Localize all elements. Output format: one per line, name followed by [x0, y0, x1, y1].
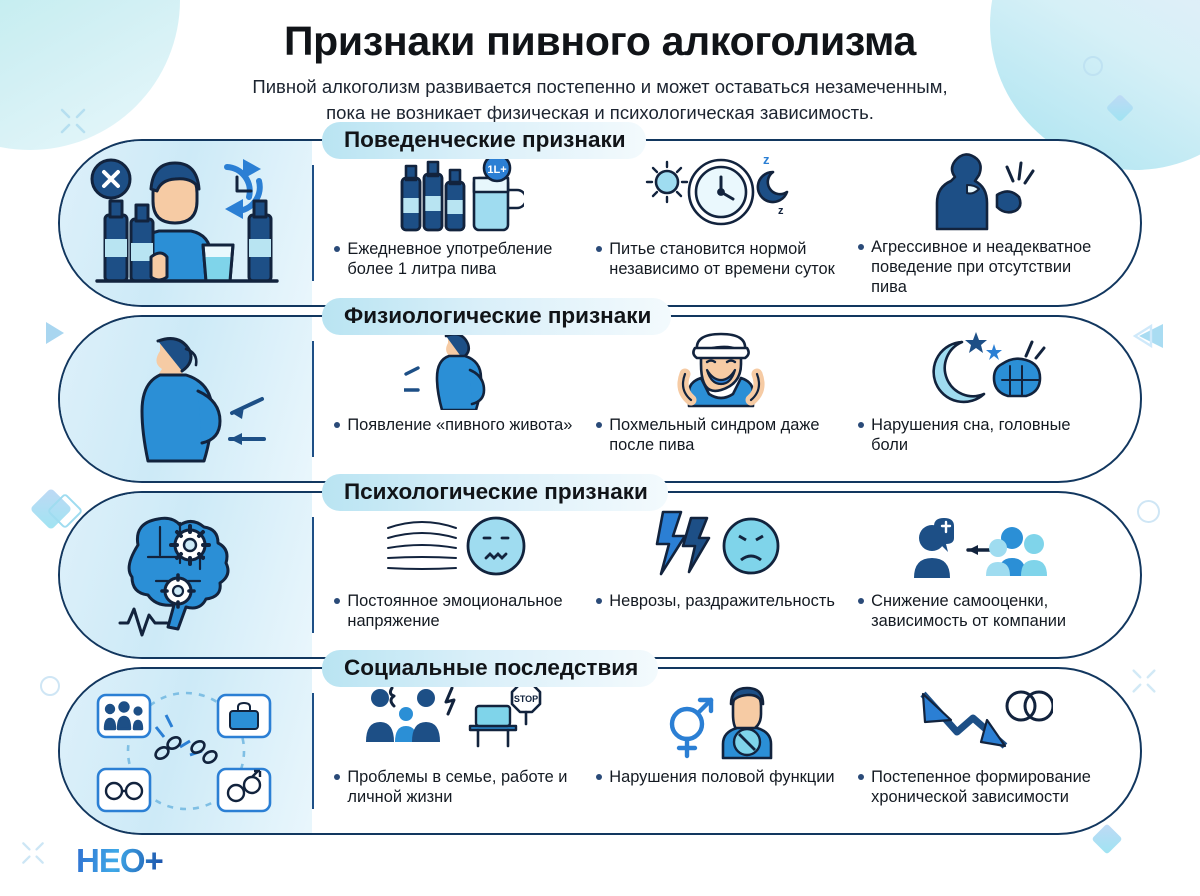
list-item-text-row: Неврозы, раздражительность	[596, 591, 846, 611]
svg-text:STOP: STOP	[514, 694, 538, 704]
section-card-physiological: Физиологические признаки	[58, 315, 1142, 483]
section-items-psychological: Постоянное эмоциональное напряжение	[314, 493, 1140, 657]
page-header: Признаки пивного алкоголизма Пивной алко…	[0, 0, 1200, 127]
bullet-dot	[596, 246, 602, 252]
bullet-dot	[858, 774, 864, 780]
section-items-social: STOP Проблемы в семье, работе и личной ж…	[314, 669, 1140, 833]
list-item: Агрессивное и неадекватное поведение при…	[852, 151, 1114, 297]
list-item-label: Агрессивное и неадекватное поведение при…	[871, 237, 1108, 298]
illustration-man-with-beer-belly	[60, 317, 312, 481]
list-item-text-row: Похмельный синдром даже после пива	[596, 415, 846, 456]
bullet-dot	[334, 598, 340, 604]
list-item-text-row: Агрессивное и неадекватное поведение при…	[858, 237, 1108, 298]
heading-dash	[650, 139, 692, 142]
section-items-behavioral: 1L+ Ежедневное употребление более 1 литр…	[314, 141, 1140, 305]
illustration-man-with-beer-bottles	[60, 141, 312, 305]
section-heading-label: Психологические признаки	[322, 474, 668, 511]
beer-belly-profile-icon	[404, 327, 514, 411]
bullet-dot	[858, 244, 864, 250]
list-item: z z Питье становится нормой независимо о…	[590, 151, 852, 297]
tense-worried-face-icon	[384, 503, 534, 587]
list-item-text-row: Снижение самооценки, зависимость от комп…	[858, 591, 1108, 632]
list-item-label: Постоянное эмоциональное напряжение	[347, 591, 584, 632]
sexual-dysfunction-icon	[661, 679, 781, 763]
list-item-label: Нарушения сна, головные боли	[871, 415, 1108, 456]
list-item-text-row: Появление «пивного живота»	[334, 415, 584, 435]
moon-stars-brain-insomnia-icon	[918, 327, 1048, 411]
section-heading-behavioral: Поведенческие признаки	[322, 122, 692, 159]
subtitle-line-1: Пивной алкоголизм развивается постепенно…	[0, 74, 1200, 100]
list-item-label: Нарушения половой функции	[609, 767, 834, 787]
svg-text:z: z	[778, 205, 784, 217]
list-item: Нарушения сна, головные боли	[852, 327, 1114, 473]
bullet-dot	[858, 598, 864, 604]
family-conflict-work-stop-icon: STOP	[364, 679, 554, 763]
list-item-text-row: Нарушения сна, головные боли	[858, 415, 1108, 456]
list-item-text-row: Постоянное эмоциональное напряжение	[334, 591, 584, 632]
section-card-psychological: Психологические признаки	[58, 491, 1142, 659]
list-item-text-row: Постепенное формирование хронической зав…	[858, 767, 1108, 808]
bullet-dot	[334, 246, 340, 252]
aggressive-shouting-man-icon	[923, 151, 1043, 233]
day-night-clock-icon: z z	[641, 151, 801, 235]
list-item-label: Питье становится нормой независимо от вр…	[609, 239, 846, 280]
list-item: Неврозы, раздражительность	[590, 503, 852, 649]
section-card-behavioral: Поведенческие признаки	[58, 139, 1142, 307]
section-card-social: Социальные последствия	[58, 667, 1142, 835]
list-item-text-row: Проблемы в семье, работе и личной жизни	[334, 767, 584, 808]
bullet-dot	[596, 774, 602, 780]
bullet-dot	[334, 774, 340, 780]
illustration-broken-chain-family-work	[60, 669, 312, 833]
list-item-label: Постепенное формирование хронической зав…	[871, 767, 1108, 808]
list-item-label: Проблемы в семье, работе и личной жизни	[347, 767, 584, 808]
section-heading-psychological: Психологические признаки	[322, 474, 714, 511]
bullet-dot	[596, 598, 602, 604]
list-item-label: Неврозы, раздражительность	[609, 591, 835, 611]
list-item: Похмельный синдром даже после пива	[590, 327, 852, 473]
list-item: 1L+ Ежедневное употребление более 1 литр…	[328, 151, 590, 297]
section-items-physiological: Появление «пивного живота»	[314, 317, 1140, 481]
list-item-label: Ежедневное употребление более 1 литра пи…	[347, 239, 584, 280]
section-heading-social: Социальные последствия	[322, 650, 704, 687]
lightning-angry-face-icon	[651, 503, 791, 587]
section-heading-label: Физиологические признаки	[322, 298, 671, 335]
page-subtitle: Пивной алкоголизм развивается постепенно…	[0, 74, 1200, 127]
beer-bottles-and-1l-jug-icon: 1L+	[394, 151, 524, 235]
page-title: Признаки пивного алкоголизма	[0, 18, 1200, 65]
list-item: STOP Проблемы в семье, работе и личной ж…	[328, 679, 590, 825]
list-item: Появление «пивного живота»	[328, 327, 590, 473]
list-item: Постепенное формирование хронической зав…	[852, 679, 1114, 825]
section-heading-physiological: Физиологические признаки	[322, 298, 717, 335]
list-item: Постоянное эмоциональное напряжение	[328, 503, 590, 649]
list-item-label: Появление «пивного живота»	[347, 415, 572, 435]
downward-arrow-rings-icon	[913, 679, 1053, 763]
svg-text:z: z	[763, 152, 770, 167]
list-item: Снижение самооценки, зависимость от комп…	[852, 503, 1114, 649]
bullet-dot	[858, 422, 864, 428]
list-item-text-row: Ежедневное употребление более 1 литра пи…	[334, 239, 584, 280]
heading-dash	[675, 315, 717, 318]
list-item-label: Похмельный синдром даже после пива	[609, 415, 846, 456]
heading-dash	[672, 491, 714, 494]
hangover-headache-man-icon	[661, 327, 781, 411]
section-heading-label: Социальные последствия	[322, 650, 658, 687]
section-heading-label: Поведенческие признаки	[322, 122, 646, 159]
low-self-esteem-group-icon	[908, 503, 1058, 587]
decor-sparkle-bottom-left	[18, 838, 48, 868]
bullet-dot	[334, 422, 340, 428]
sections-list: Поведенческие признаки	[0, 139, 1200, 835]
illustration-brain-with-gears	[60, 493, 312, 657]
heading-dash	[662, 667, 704, 670]
svg-text:1L+: 1L+	[488, 164, 507, 176]
brand-logo: НЕО+	[76, 842, 163, 880]
list-item-text-row: Нарушения половой функции	[596, 767, 846, 787]
bullet-dot	[596, 422, 602, 428]
list-item: Нарушения половой функции	[590, 679, 852, 825]
list-item-text-row: Питье становится нормой независимо от вр…	[596, 239, 846, 280]
list-item-label: Снижение самооценки, зависимость от комп…	[871, 591, 1108, 632]
